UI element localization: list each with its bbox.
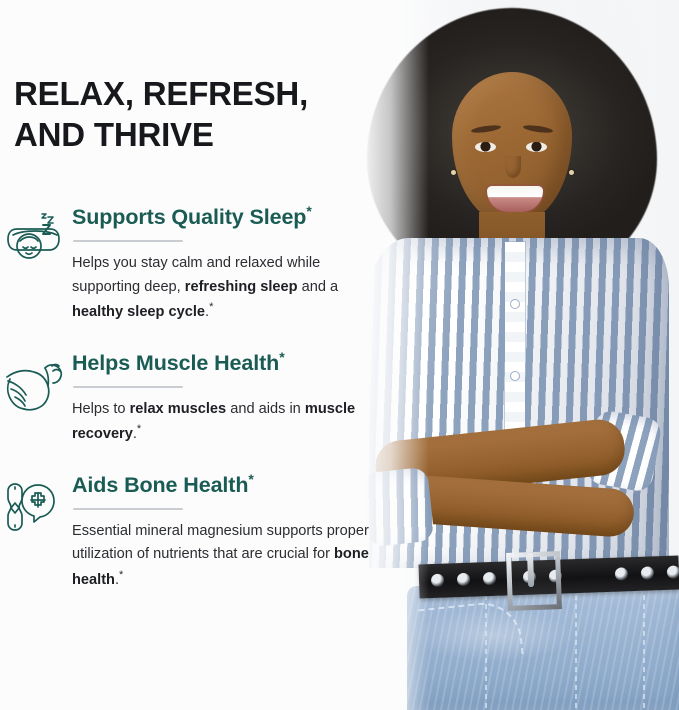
shirt-button — [511, 372, 519, 380]
asterisk: * — [248, 471, 253, 487]
feature-item-sleep: Supports Quality Sleep* Helps you stay c… — [0, 203, 400, 325]
feature-title-text: Supports Quality Sleep — [72, 205, 306, 229]
eye-left — [475, 142, 496, 152]
earring-left — [451, 170, 456, 175]
feature-list: Supports Quality Sleep* Helps you stay c… — [0, 203, 400, 617]
eye-right — [526, 142, 547, 152]
feature-title-text: Helps Muscle Health — [72, 351, 279, 375]
page-title: RELAX, REFRESH,AND THRIVE — [14, 74, 374, 156]
feature-title-text: Aids Bone Health — [72, 473, 248, 497]
jeans-seam — [643, 586, 645, 710]
asterisk: * — [306, 203, 311, 219]
divider — [73, 508, 183, 510]
earring-right — [569, 170, 574, 175]
feature-item-bone: Aids Bone Health* Essential mineral magn… — [0, 471, 400, 593]
feature-item-muscle: Helps Muscle Health* Helps to relax musc… — [0, 349, 400, 447]
asterisk: * — [279, 349, 284, 365]
flexed-bicep-icon — [0, 349, 72, 417]
divider — [73, 386, 183, 388]
feature-text: Helps you stay calm and relaxed while su… — [72, 252, 372, 325]
feature-body: Supports Quality Sleep* Helps you stay c… — [72, 203, 400, 325]
sleeping-face-on-pillow-icon — [0, 203, 72, 271]
feature-body: Aids Bone Health* Essential mineral magn… — [72, 471, 400, 593]
promo-infographic: RELAX, REFRESH,AND THRIVE — [0, 0, 679, 710]
feature-title: Helps Muscle Health* — [72, 349, 392, 377]
feature-text: Helps to relax muscles and aids in muscl… — [72, 398, 372, 447]
nose — [505, 156, 521, 178]
jeans-seam — [575, 586, 577, 710]
bone-joint-medical-cross-icon — [0, 471, 72, 543]
feature-title: Supports Quality Sleep* — [72, 203, 392, 231]
divider — [73, 240, 183, 242]
feature-text: Essential mineral magnesium supports pro… — [72, 520, 372, 593]
jeans-pocket — [418, 599, 523, 665]
feature-title: Aids Bone Health* — [72, 471, 392, 499]
shirt-button — [511, 300, 519, 308]
feature-body: Helps Muscle Health* Helps to relax musc… — [72, 349, 400, 447]
belt-buckle — [506, 551, 562, 611]
smiling-woman-striped-shirt-photo — [359, 0, 679, 710]
